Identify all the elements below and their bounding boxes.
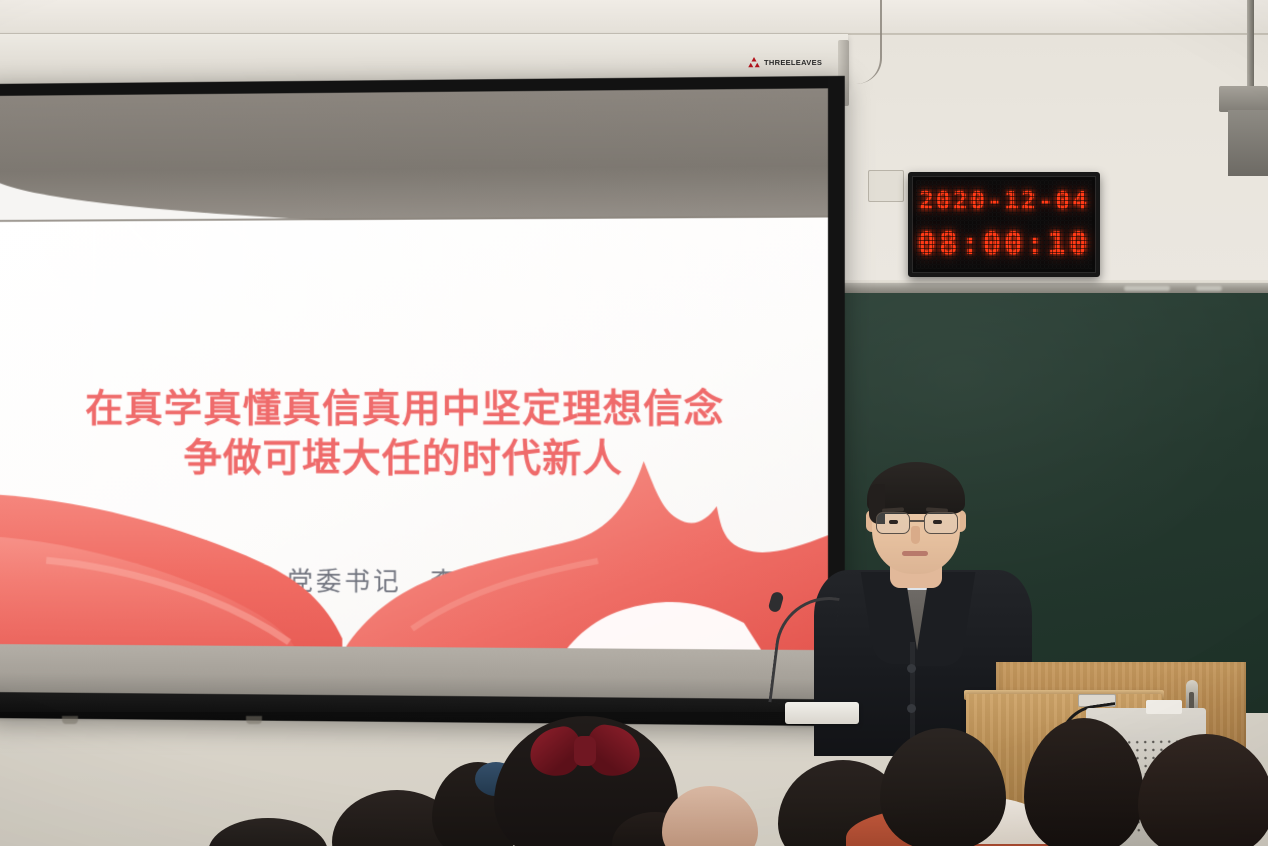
ceiling	[0, 0, 1268, 34]
chalk-smudge	[1196, 286, 1222, 291]
screen-unlit-bottom-band	[0, 644, 828, 699]
podium-small-device	[1146, 700, 1182, 714]
screen-shadow	[0, 712, 828, 722]
screen-brand-text: THREELEAVES	[764, 58, 822, 67]
ceiling-mount-bracket	[1219, 86, 1268, 112]
presenter-hair	[867, 462, 965, 514]
presenter-jacket-button	[907, 704, 916, 713]
red-silk-ribbon-graphic	[0, 440, 828, 652]
presenter-mouth	[902, 551, 928, 556]
slide-title-line-1: 在真学真懂真信真用中坚定理想信念	[0, 384, 828, 434]
microphone-capsule	[767, 591, 784, 614]
screen-surface: 在真学真懂真信真用中坚定理想信念 争做可堪大任的时代新人 党委书记 李旭锋	[0, 88, 828, 699]
wall-plate	[868, 170, 904, 202]
microphone-base	[785, 702, 859, 724]
presenter-eye-left	[889, 520, 898, 524]
led-time-text: 08:00:10	[912, 226, 1096, 262]
three-leaves-logo-icon	[748, 57, 760, 68]
screen-brand-logo: THREELEAVES	[748, 57, 822, 68]
ceiling-mount-pole	[1247, 0, 1254, 92]
presentation-slide: 在真学真懂真信真用中坚定理想信念 争做可堪大任的时代新人 党委书记 李旭锋	[0, 217, 828, 652]
gooseneck-microphone	[763, 592, 873, 724]
led-date-text: 2020-12-04	[912, 186, 1096, 215]
housing-cable	[846, 0, 882, 84]
wall-mounted-unit	[1228, 110, 1268, 176]
chalk-smudge	[1124, 286, 1170, 291]
projection-screen: 在真学真懂真信真用中坚定理想信念 争做可堪大任的时代新人 党委书记 李旭锋	[0, 76, 845, 726]
eyeglass-bridge	[910, 520, 924, 522]
led-clock-display: 2020-12-04 08:00:10	[908, 172, 1100, 277]
presenter-jacket-button	[907, 664, 916, 673]
screen-unlit-top-band	[0, 88, 828, 234]
screen-bracket-nub	[246, 716, 262, 724]
hair-bow-knot	[574, 736, 596, 766]
screen-bracket-nub	[62, 716, 78, 724]
presenter-eye-right	[933, 520, 942, 524]
presenter-nose	[911, 526, 920, 544]
hair-bow	[530, 724, 642, 780]
lecture-hall-scene: 2020-12-04 08:00:10 THREELEAVES 在真学真懂真信真…	[0, 0, 1268, 846]
